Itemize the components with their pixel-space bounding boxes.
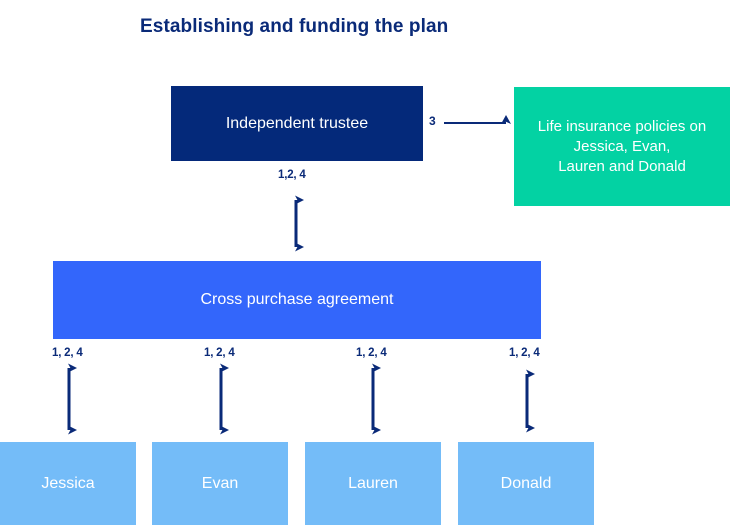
connector-label-agreement-to-jessica: 1, 2, 4	[52, 347, 83, 359]
connector-label-trustee-to-agreement: 1,2, 4	[278, 169, 306, 181]
node-person-donald-label: Donald	[501, 475, 552, 493]
policies-line-3: Lauren and Donald	[558, 158, 686, 175]
policies-line-1: Life insurance policies on	[538, 118, 706, 135]
diagram-canvas: Establishing and funding the plan	[0, 0, 730, 525]
node-person-lauren-label: Lauren	[348, 475, 398, 493]
connector-label-agreement-to-lauren: 1, 2, 4	[356, 347, 387, 359]
connector-label-agreement-to-donald: 1, 2, 4	[509, 347, 540, 359]
node-person-jessica-label: Jessica	[41, 475, 94, 493]
connector-label-agreement-to-evan: 1, 2, 4	[204, 347, 235, 359]
node-life-insurance-policies-text: Life insurance policies on Jessica, Evan…	[538, 117, 706, 177]
node-life-insurance-policies[interactable]: Life insurance policies on Jessica, Evan…	[514, 87, 730, 206]
node-person-lauren[interactable]: Lauren	[305, 442, 441, 525]
node-person-evan-label: Evan	[202, 475, 238, 493]
connector-label-trustee-to-policies: 3	[429, 114, 435, 128]
node-cross-purchase-agreement[interactable]: Cross purchase agreement	[53, 261, 541, 339]
node-independent-trustee[interactable]: Independent trustee	[171, 86, 423, 161]
node-person-evan[interactable]: Evan	[152, 442, 288, 525]
node-cross-purchase-agreement-label: Cross purchase agreement	[201, 291, 394, 309]
node-independent-trustee-label: Independent trustee	[226, 114, 368, 134]
policies-line-2: Jessica, Evan,	[574, 138, 671, 155]
node-person-donald[interactable]: Donald	[458, 442, 594, 525]
page-title: Establishing and funding the plan	[140, 16, 448, 38]
node-person-jessica[interactable]: Jessica	[0, 442, 136, 525]
